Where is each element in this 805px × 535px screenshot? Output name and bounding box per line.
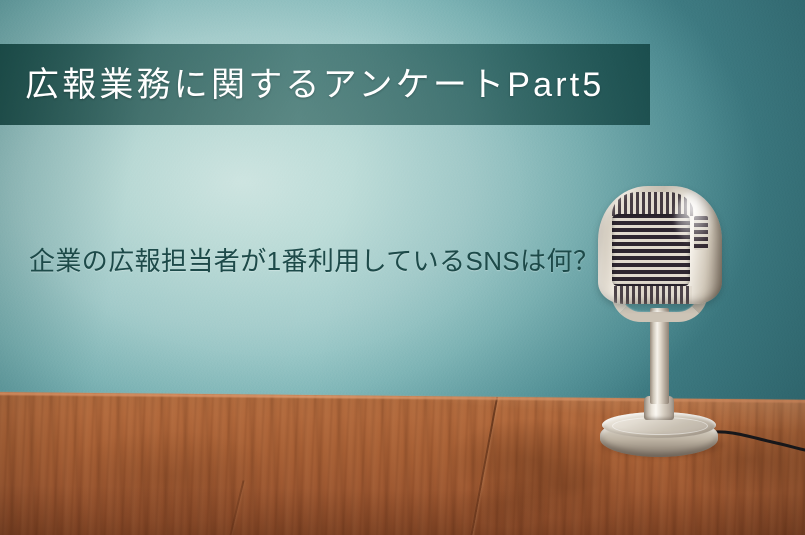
slide-canvas: 広報業務に関するアンケートPart5 企業の広報担当者が1番利用しているSNSは… <box>0 0 805 535</box>
microphone-highlight <box>675 191 717 245</box>
retro-microphone <box>588 186 748 476</box>
microphone-stand-post <box>650 308 669 404</box>
page-title: 広報業務に関するアンケートPart5 <box>25 56 645 114</box>
microphone-bottom-vents <box>614 286 692 304</box>
page-subtitle: 企業の広報担当者が1番利用しているSNSは何？ <box>29 243 729 279</box>
